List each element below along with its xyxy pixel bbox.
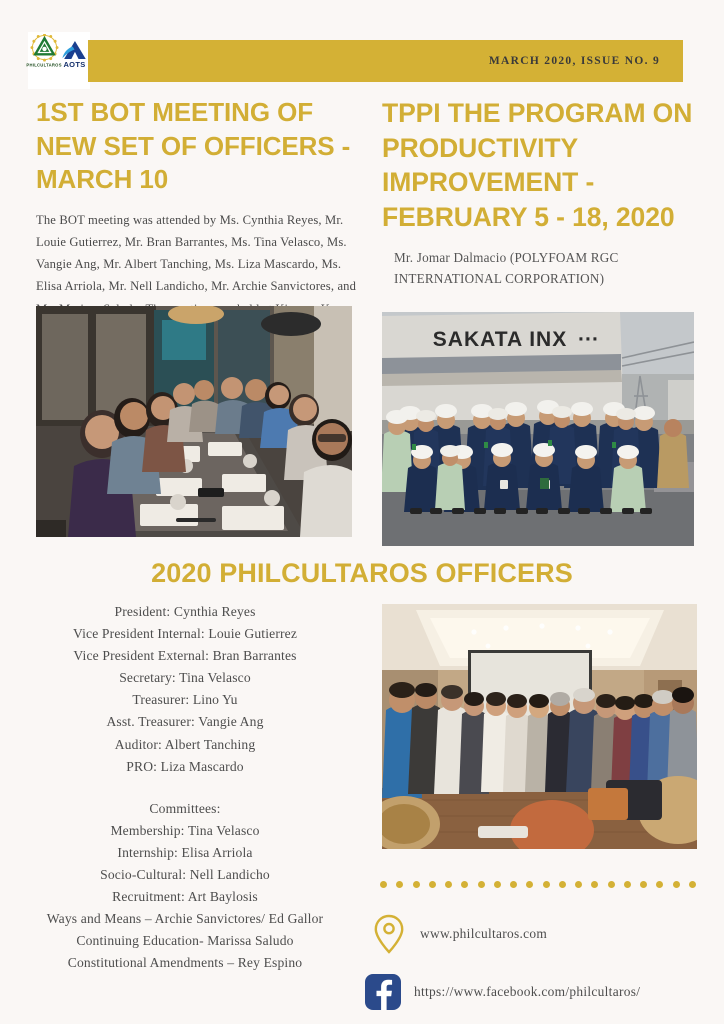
aots-mark-icon <box>61 40 88 61</box>
list-item: PRO: Liza Mascardo <box>10 756 360 778</box>
page-header: PHILCULTAROS AOTS MARCH 2020, ISSUE NO. … <box>0 40 724 82</box>
header-gold-bar: MARCH 2020, ISSUE NO. 9 <box>88 40 683 82</box>
officers-names: President: Cynthia ReyesVice President I… <box>10 601 360 778</box>
divider-dot <box>494 881 501 888</box>
divider-dot <box>559 881 566 888</box>
list-item: Treasurer: Lino Yu <box>10 689 360 711</box>
divider-dot <box>640 881 647 888</box>
divider-dot <box>591 881 598 888</box>
footer-dot-divider <box>380 881 696 888</box>
website-url[interactable]: www.philcultaros.com <box>420 926 547 942</box>
divider-dot <box>445 881 452 888</box>
footer-facebook-line[interactable]: https://www.facebook.com/philcultaros/ <box>360 973 640 1011</box>
photo-bot-meeting-image <box>36 306 352 537</box>
facebook-url[interactable]: https://www.facebook.com/philcultaros/ <box>414 984 640 1000</box>
article-bot-meeting-headline: 1ST BOT MEETING OF NEW SET OF OFFICERS -… <box>36 96 358 197</box>
committees-label: Committees: <box>10 798 360 820</box>
photo-sakata-image: SAKATA INX ··· <box>382 312 694 546</box>
photo-officers-group <box>382 604 697 849</box>
officers-list-spacer <box>10 778 360 798</box>
list-item: Auditor: Albert Tanching <box>10 734 360 756</box>
officers-section-title: 2020 PHILCULTAROS OFFICERS <box>0 558 724 589</box>
article-tppi-subcaption: Mr. Jomar Dalmacio (POLYFOAM RGC INTERNA… <box>394 247 694 290</box>
list-item: Vice President External: Bran Barrantes <box>10 645 360 667</box>
divider-dot <box>380 881 387 888</box>
location-pin-icon <box>366 913 412 955</box>
newsletter-page: PHILCULTAROS AOTS MARCH 2020, ISSUE NO. … <box>0 0 724 1024</box>
list-item: Recruitment: Art Baylosis <box>10 886 360 908</box>
divider-dot <box>543 881 550 888</box>
list-item: Continuing Education- Marissa Saludo <box>10 930 360 952</box>
article-tppi-headline: TPPI THE PROGRAM ON PRODUCTIVITY IMPROVE… <box>382 96 694 235</box>
divider-dot <box>526 881 533 888</box>
divider-dot <box>478 881 485 888</box>
philcultaros-logo-caption: PHILCULTAROS <box>27 62 62 67</box>
list-item: Secretary: Tina Velasco <box>10 667 360 689</box>
footer-website-line[interactable]: www.philcultaros.com <box>366 913 547 955</box>
divider-dot <box>673 881 680 888</box>
divider-dot <box>413 881 420 888</box>
philcultaros-logo: PHILCULTAROS <box>30 34 59 67</box>
aots-logo: AOTS <box>60 40 89 69</box>
divider-dot <box>689 881 696 888</box>
divider-dot <box>429 881 436 888</box>
photo-sakata-group: SAKATA INX ··· <box>382 312 694 546</box>
divider-dot <box>656 881 663 888</box>
list-item: Ways and Means – Archie Sanvictores/ Ed … <box>10 908 360 930</box>
issue-label: MARCH 2020, ISSUE NO. 9 <box>489 55 683 67</box>
list-item: Membership: Tina Velasco <box>10 820 360 842</box>
philcultaros-gear-icon <box>30 34 59 62</box>
list-item: Socio-Cultural: Nell Landicho <box>10 864 360 886</box>
list-item: Asst. Treasurer: Vangie Ang <box>10 711 360 733</box>
divider-dot <box>624 881 631 888</box>
divider-dot <box>575 881 582 888</box>
svg-text:···: ··· <box>578 328 599 351</box>
article-tppi: TPPI THE PROGRAM ON PRODUCTIVITY IMPROVE… <box>382 96 694 290</box>
photo-bot-meeting <box>36 306 352 537</box>
list-item: Constitutional Amendments – Rey Espino <box>10 952 360 974</box>
divider-dot <box>510 881 517 888</box>
divider-dot <box>396 881 403 888</box>
committees-names: Membership: Tina VelascoInternship: Elis… <box>10 820 360 975</box>
list-item: President: Cynthia Reyes <box>10 601 360 623</box>
divider-dot <box>608 881 615 888</box>
list-item: Internship: Elisa Arriola <box>10 842 360 864</box>
photo-officers-image <box>382 604 697 849</box>
list-item: Vice President Internal: Louie Gutierrez <box>10 623 360 645</box>
logo-group: PHILCULTAROS AOTS <box>28 32 90 89</box>
officers-list: President: Cynthia ReyesVice President I… <box>10 601 360 975</box>
photo-sakata-sign-text: SAKATA INX <box>433 328 567 351</box>
aots-logo-caption: AOTS <box>63 61 85 69</box>
divider-dot <box>461 881 468 888</box>
facebook-icon[interactable] <box>360 973 406 1011</box>
